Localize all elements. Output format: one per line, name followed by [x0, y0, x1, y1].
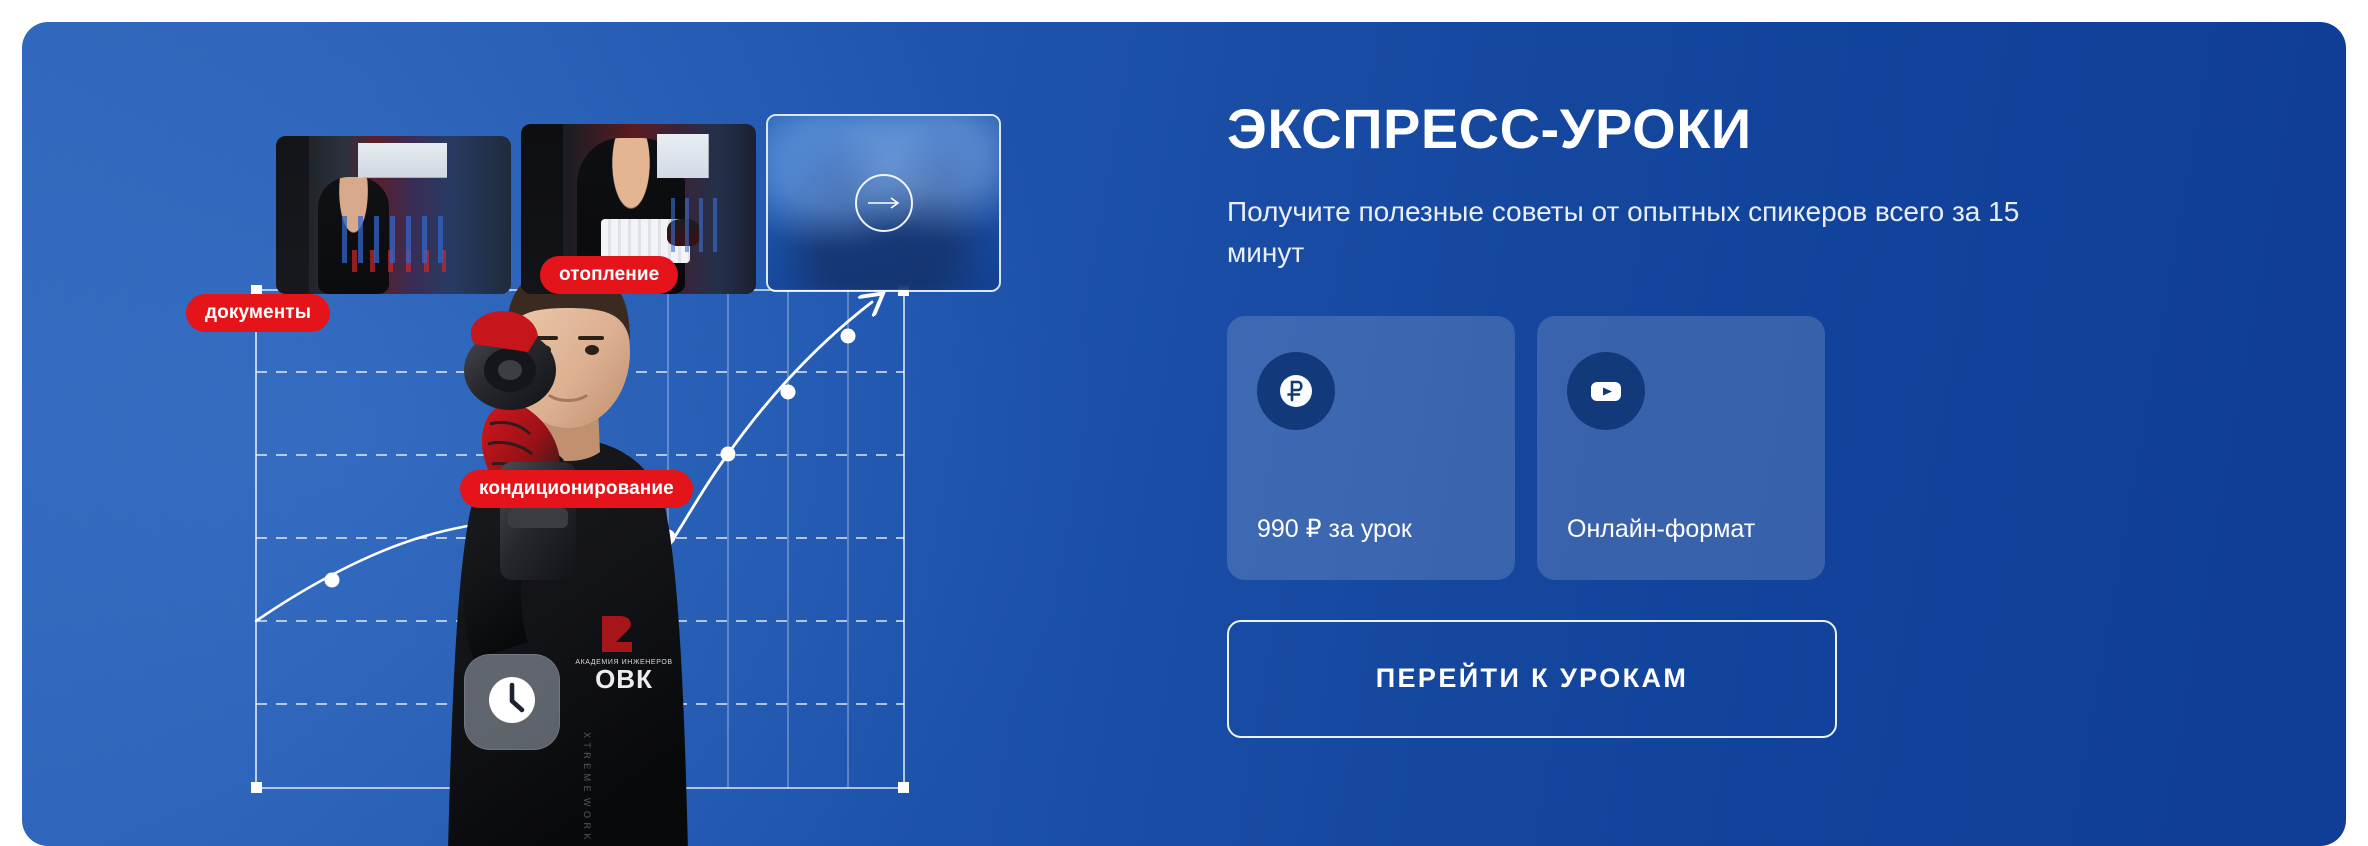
chart-label-documents: документы — [186, 294, 330, 332]
feature-cards: 990 ₽ за урок Онлайн-формат — [1227, 316, 2227, 580]
feature-card-format[interactable]: Онлайн-формат — [1537, 316, 1825, 580]
chart-label-heating: отопление — [540, 256, 678, 294]
feature-card-price[interactable]: 990 ₽ за урок — [1227, 316, 1515, 580]
lesson-thumbnail-1[interactable] — [276, 136, 511, 294]
express-lessons-hero: ОВК АКАДЕМИЯ ИНЖЕНЕРОВ X T R E M E W O R… — [22, 22, 2346, 846]
lesson-thumbnail-3-blurred[interactable] — [766, 114, 1001, 292]
go-to-lessons-label: ПЕРЕЙТИ К УРОКАМ — [1376, 663, 1689, 694]
clock-icon — [486, 674, 538, 731]
growth-chart — [250, 284, 910, 794]
chart-label-conditioning: кондиционирование — [460, 470, 693, 508]
thumbnail-2-glove — [667, 219, 700, 246]
ruble-icon — [1257, 352, 1335, 430]
feature-card-format-label: Онлайн-формат — [1567, 514, 1795, 544]
chart-series-heating — [566, 302, 872, 621]
page-title: ЭКСПРЕСС-УРОКИ — [1227, 100, 2227, 159]
feature-card-price-label: 990 ₽ за урок — [1257, 514, 1485, 544]
chart-gridlines-vertical — [668, 290, 848, 788]
hero-visual: ОВК АКАДЕМИЯ ИНЖЕНЕРОВ X T R E M E W O R… — [250, 92, 990, 846]
hero-content: ЭКСПРЕСС-УРОКИ Получите полезные советы … — [1227, 100, 2227, 738]
svg-text:W O R K: W O R K — [582, 798, 592, 841]
thumbnail-1-person — [318, 177, 389, 294]
thumbnail-1-image — [276, 136, 511, 294]
hero-subtitle: Получите полезные советы от опытных спик… — [1227, 191, 2057, 274]
chart-corner-handles — [251, 285, 909, 793]
clock-widget — [464, 654, 560, 750]
screenshot-root: ОВК АКАДЕМИЯ ИНЖЕНЕРОВ X T R E M E W O R… — [0, 0, 2368, 846]
chart-frame — [256, 290, 904, 788]
chart-gridlines-horizontal — [256, 372, 904, 704]
chart-series-documents — [256, 519, 580, 621]
arrow-right-icon[interactable] — [855, 174, 913, 232]
go-to-lessons-button[interactable]: ПЕРЕЙТИ К УРОКАМ — [1227, 620, 1837, 738]
chart-point — [325, 573, 340, 588]
youtube-play-icon — [1567, 352, 1645, 430]
